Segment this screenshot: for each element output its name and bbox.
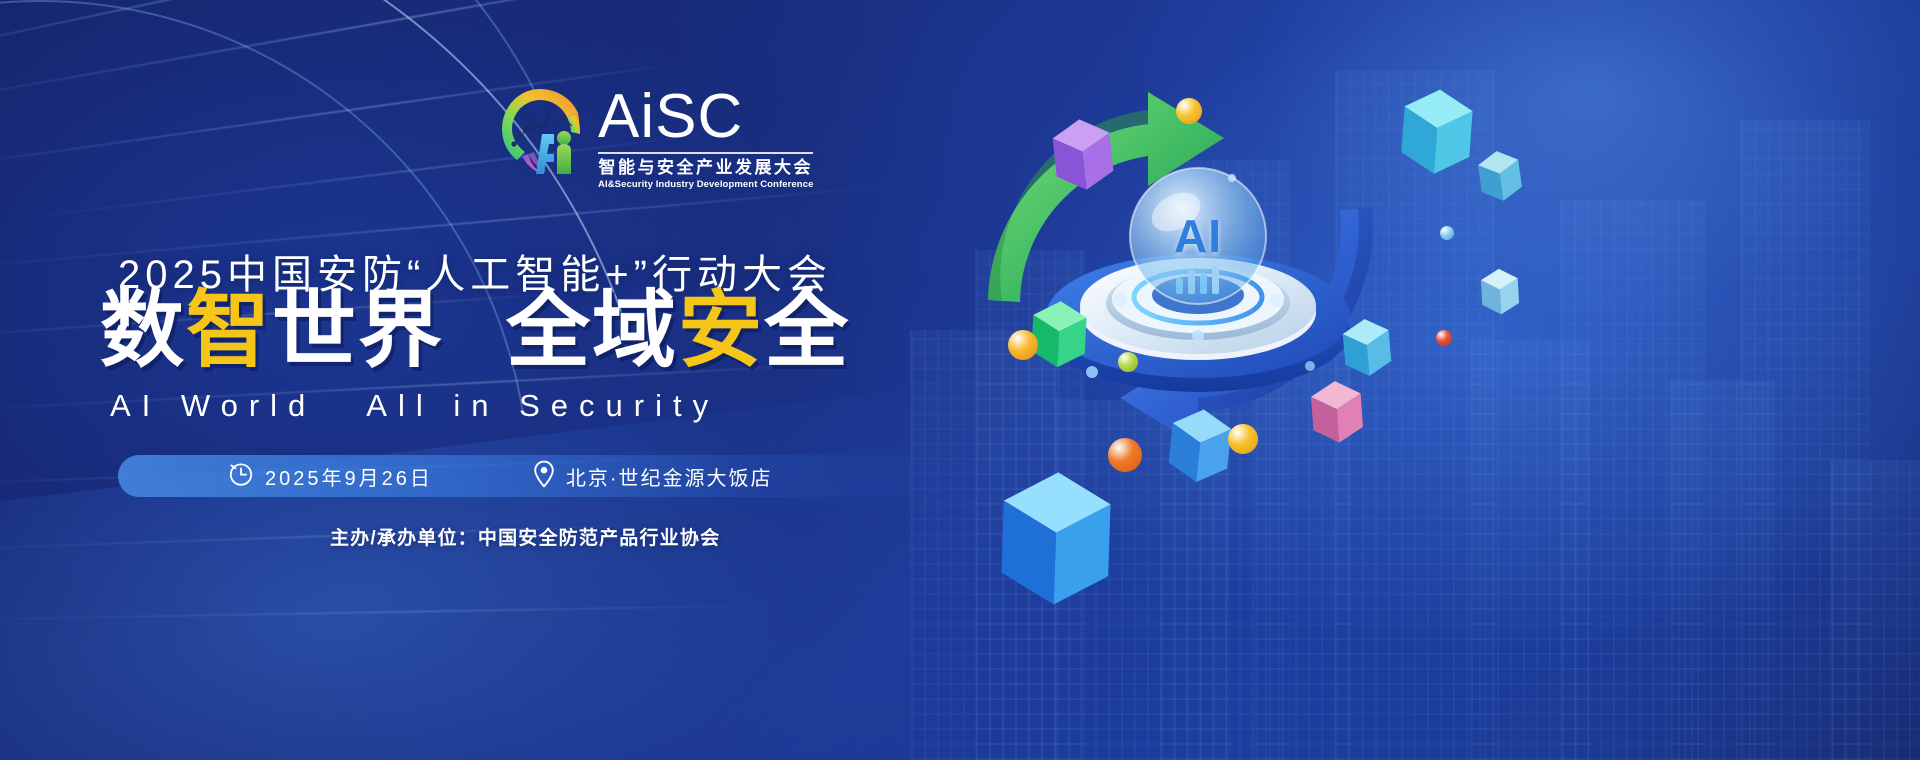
floating-sphere [1228, 424, 1258, 454]
dot [1086, 366, 1098, 378]
floating-sphere [1108, 438, 1142, 472]
floating-cube [1397, 86, 1477, 178]
floating-sphere [1176, 98, 1202, 124]
title-char-3: 世界 [272, 283, 444, 377]
page-subtitle-en: AI WorldAll in Security [110, 388, 1010, 424]
title-char-2: 智 [186, 283, 272, 377]
dot [1228, 174, 1236, 182]
floating-sphere [1440, 226, 1454, 240]
floating-cube [1164, 405, 1236, 487]
logo-subtitle-en: AI&Security Industry Development Confere… [598, 179, 813, 190]
floating-cube [1340, 316, 1395, 379]
title-char-6: 全 [764, 283, 850, 377]
event-venue: 北京·世纪金源大饭店 [533, 460, 773, 493]
ai-badge: AI [1148, 190, 1248, 282]
logo-divider [598, 152, 813, 154]
location-pin-icon [533, 460, 555, 493]
event-date-text: 2025年9月26日 [265, 462, 433, 491]
conference-logo: AiSC 智能与安全产业发展大会 AI&Security Industry De… [492, 82, 813, 190]
subtitle-en-left: AI World [110, 388, 316, 423]
content-block: AiSC 智能与安全产业发展大会 AI&Security Industry De… [0, 0, 1080, 760]
subtitle-en-right: All in Security [366, 388, 719, 423]
banner-stage: AI [0, 0, 1920, 760]
aisc-globe-ai-logo-icon [492, 82, 588, 178]
floating-cube [1308, 378, 1366, 445]
floating-sphere [1118, 352, 1138, 372]
event-date: 2025年9月26日 [228, 461, 433, 492]
title-char-4: 全域 [506, 283, 678, 377]
title-char-5: 安 [678, 283, 764, 377]
title-char-1: 数 [100, 283, 186, 377]
dot [1305, 361, 1315, 371]
organizer-line: 主办/承办单位：中国安全防范产品行业协会 [330, 523, 720, 550]
logo-text-block: AiSC 智能与安全产业发展大会 AI&Security Industry De… [598, 82, 813, 190]
ai-badge-text: AI [1174, 209, 1222, 263]
floating-sphere [1436, 330, 1452, 346]
logo-subtitle-cn: 智能与安全产业发展大会 [598, 158, 813, 178]
floating-cube [1479, 267, 1521, 316]
logo-wordmark: AiSC [598, 88, 813, 147]
clock-icon [228, 461, 254, 492]
event-info-bar: 2025年9月26日 北京·世纪金源大饭店 [118, 455, 948, 497]
page-title: 数智世界全域安全 [100, 288, 1000, 372]
event-venue-text: 北京·世纪金源大饭店 [566, 462, 773, 491]
floating-cube [1475, 147, 1526, 205]
